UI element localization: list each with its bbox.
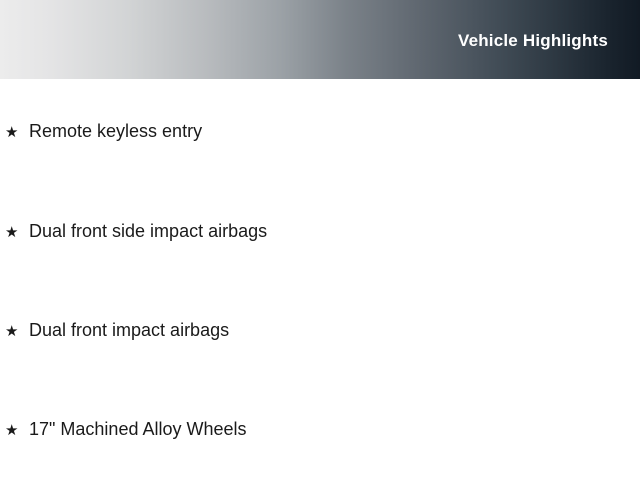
star-bullet-icon: ★ [5, 322, 29, 342]
list-item: ★ Dual front side impact airbags [5, 221, 267, 243]
header-banner: Vehicle Highlights [0, 0, 640, 79]
highlight-label: Dual front side impact airbags [29, 221, 267, 241]
list-item: ★ Remote keyless entry [5, 121, 202, 143]
list-item: ★ 17" Machined Alloy Wheels [5, 419, 247, 441]
vehicle-highlights-page: Vehicle Highlights ★ Remote keyless entr… [0, 0, 640, 480]
highlight-label: 17" Machined Alloy Wheels [29, 419, 247, 439]
highlight-label: Dual front impact airbags [29, 320, 229, 340]
star-bullet-icon: ★ [5, 223, 29, 243]
star-bullet-icon: ★ [5, 421, 29, 441]
highlight-label: Remote keyless entry [29, 121, 202, 141]
page-title: Vehicle Highlights [458, 30, 608, 52]
list-item: ★ Dual front impact airbags [5, 320, 229, 342]
highlights-list: ★ Remote keyless entry ★ Dual front side… [0, 79, 640, 480]
star-bullet-icon: ★ [5, 123, 29, 143]
